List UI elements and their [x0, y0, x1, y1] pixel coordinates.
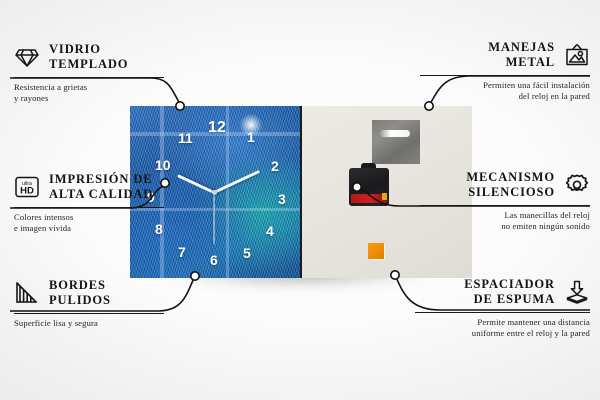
feature-divider [14, 77, 164, 78]
feature-title: ESPACIADOR DE ESPUMA [464, 277, 555, 308]
feature-description: Las manecillas del reloj no emiten ningú… [420, 210, 590, 233]
feature-mecanismo-silencioso[interactable]: MECANISMO SILENCIOSO Las manecillas del … [420, 170, 590, 233]
feature-header: ultra HD IMPRESIÓN DE ALTA CALIDAD [14, 172, 164, 203]
polished-edge-icon [14, 281, 40, 305]
feature-description: Permite mantener una distancia uniforme … [415, 317, 590, 340]
picture-hanger-icon [564, 43, 590, 67]
feature-divider [14, 207, 164, 208]
feature-description: Superficie lisa y segura [14, 318, 164, 330]
gear-icon [564, 173, 590, 197]
feature-divider [420, 205, 590, 206]
feature-espaciador-de-espuma[interactable]: ESPACIADOR DE ESPUMA Permite mantener un… [415, 277, 590, 340]
feature-title: IMPRESIÓN DE ALTA CALIDAD [49, 172, 153, 203]
connector-dot-bordes [191, 272, 199, 280]
feature-manejas-metal[interactable]: MANEJAS METAL Permiten una fácil instala… [420, 40, 590, 103]
feature-divider [14, 313, 164, 314]
feature-title: MANEJAS METAL [488, 40, 555, 71]
connector-dot-mecanismo [353, 183, 361, 191]
feature-description: Colores intensos e imagen vívida [14, 212, 164, 235]
connector-dot-vidrio-templado [176, 102, 184, 110]
diamond-icon [14, 45, 40, 69]
feature-description: Resistencia a grietas y rayones [14, 82, 164, 105]
feature-title: BORDES PULIDOS [49, 278, 111, 309]
feature-header: BORDES PULIDOS [14, 278, 164, 309]
connector-dot-manejas [425, 102, 433, 110]
feature-header: MECANISMO SILENCIOSO [420, 170, 590, 201]
ultra-hd-large-label: HD [20, 186, 34, 197]
feature-title: MECANISMO SILENCIOSO [466, 170, 555, 201]
feature-vidrio-templado[interactable]: VIDRIO TEMPLADO Resistencia a grietas y … [14, 42, 164, 105]
foam-spacer-icon [564, 280, 590, 304]
feature-header: ESPACIADOR DE ESPUMA [415, 277, 590, 308]
feature-header: MANEJAS METAL [420, 40, 590, 71]
infographic-canvas: 12 1 2 3 4 5 6 7 8 9 10 11 [0, 0, 600, 400]
feature-title: VIDRIO TEMPLADO [49, 42, 128, 73]
feature-description: Permiten una fácil instalación del reloj… [420, 80, 590, 103]
ultra-hd-badge-icon: ultra HD [14, 175, 40, 199]
feature-header: VIDRIO TEMPLADO [14, 42, 164, 73]
connector-dot-espaciador [391, 271, 399, 279]
feature-divider [420, 75, 590, 76]
feature-divider [415, 312, 590, 313]
feature-bordes-pulidos[interactable]: BORDES PULIDOS Superficie lisa y segura [14, 278, 164, 329]
feature-impresion-alta-calidad[interactable]: ultra HD IMPRESIÓN DE ALTA CALIDAD Color… [14, 172, 164, 235]
